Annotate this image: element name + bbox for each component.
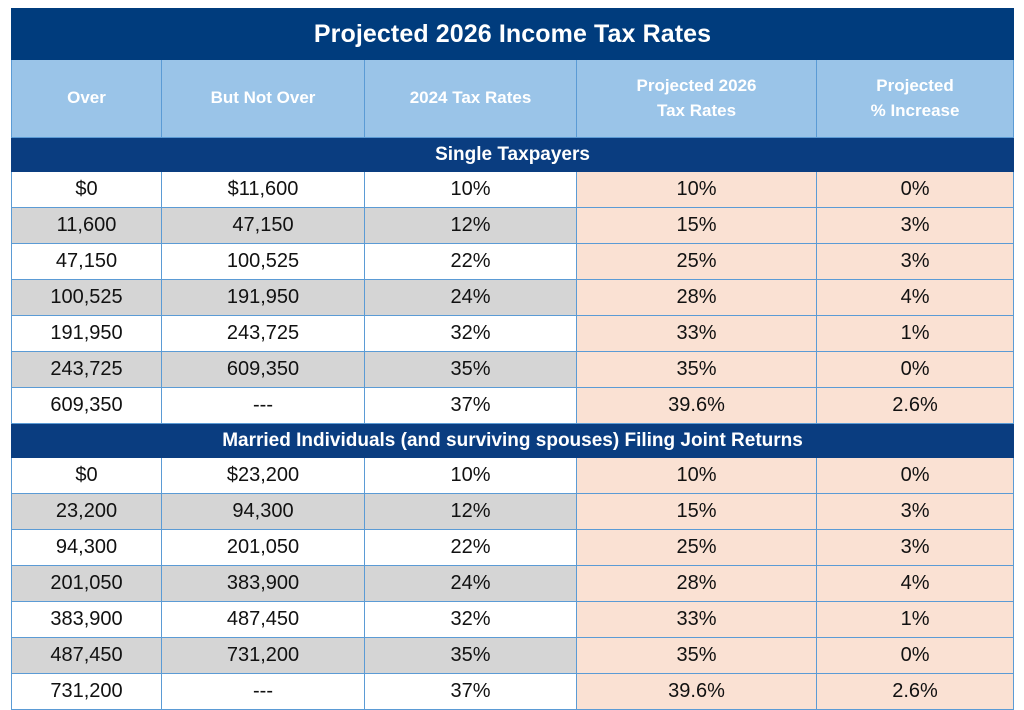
column-header-line: But Not Over (166, 86, 360, 111)
table-row: $0$11,60010%10%0% (12, 172, 1014, 208)
cell-rate-2024: 10% (365, 172, 577, 208)
cell-over: $0 (12, 172, 162, 208)
column-header-line: Projected 2026 (581, 74, 812, 99)
column-header-line: 2024 Tax Rates (369, 86, 572, 111)
cell-rate-2026: 25% (577, 530, 817, 566)
column-header-but-not-over[interactable]: But Not Over (162, 60, 365, 138)
cell-rate-2026: 39.6% (577, 674, 817, 710)
cell-but-not-over: 243,725 (162, 316, 365, 352)
cell-pct-increase: 2.6% (817, 388, 1014, 424)
cell-pct-increase: 3% (817, 494, 1014, 530)
cell-but-not-over: 487,450 (162, 602, 365, 638)
cell-but-not-over: 731,200 (162, 638, 365, 674)
cell-pct-increase: 0% (817, 638, 1014, 674)
cell-pct-increase: 1% (817, 602, 1014, 638)
table-row: 201,050383,90024%28%4% (12, 566, 1014, 602)
cell-over: 191,950 (12, 316, 162, 352)
table-row: 191,950243,72532%33%1% (12, 316, 1014, 352)
column-header-projected-increase[interactable]: Projected% Increase (817, 60, 1014, 138)
table-row: 11,60047,15012%15%3% (12, 208, 1014, 244)
cell-but-not-over: 609,350 (162, 352, 365, 388)
cell-rate-2026: 25% (577, 244, 817, 280)
table-row: 47,150100,52522%25%3% (12, 244, 1014, 280)
cell-pct-increase: 3% (817, 244, 1014, 280)
cell-over: 94,300 (12, 530, 162, 566)
cell-but-not-over: 94,300 (162, 494, 365, 530)
cell-pct-increase: 3% (817, 208, 1014, 244)
cell-pct-increase: 4% (817, 280, 1014, 316)
cell-rate-2024: 22% (365, 530, 577, 566)
cell-rate-2026: 33% (577, 316, 817, 352)
section-header-row: Single Taxpayers (12, 138, 1014, 172)
cell-over: 731,200 (12, 674, 162, 710)
table-row: $0$23,20010%10%0% (12, 458, 1014, 494)
column-header-2024-tax-rates[interactable]: 2024 Tax Rates (365, 60, 577, 138)
cell-over: 487,450 (12, 638, 162, 674)
cell-but-not-over: --- (162, 388, 365, 424)
cell-over: 383,900 (12, 602, 162, 638)
cell-but-not-over: 201,050 (162, 530, 365, 566)
page-title: Projected 2026 Income Tax Rates (12, 9, 1014, 60)
cell-but-not-over: --- (162, 674, 365, 710)
column-header-over[interactable]: Over (12, 60, 162, 138)
cell-rate-2024: 35% (365, 352, 577, 388)
column-header-row: OverBut Not Over2024 Tax RatesProjected … (12, 60, 1014, 138)
cell-rate-2026: 15% (577, 208, 817, 244)
cell-rate-2024: 37% (365, 674, 577, 710)
cell-rate-2024: 24% (365, 280, 577, 316)
projected-tax-rates-table: Projected 2026 Income Tax RatesOverBut N… (11, 8, 1014, 710)
section-header-row: Married Individuals (and surviving spous… (12, 424, 1014, 458)
cell-rate-2024: 32% (365, 316, 577, 352)
cell-rate-2026: 33% (577, 602, 817, 638)
cell-over: 609,350 (12, 388, 162, 424)
cell-pct-increase: 0% (817, 352, 1014, 388)
cell-over: 11,600 (12, 208, 162, 244)
cell-pct-increase: 2.6% (817, 674, 1014, 710)
table-row: 243,725609,35035%35%0% (12, 352, 1014, 388)
cell-but-not-over: 383,900 (162, 566, 365, 602)
table-row: 383,900487,45032%33%1% (12, 602, 1014, 638)
cell-rate-2024: 22% (365, 244, 577, 280)
cell-pct-increase: 4% (817, 566, 1014, 602)
cell-rate-2024: 12% (365, 208, 577, 244)
section-heading: Single Taxpayers (12, 138, 1014, 172)
tax-table-container: Projected 2026 Income Tax RatesOverBut N… (11, 8, 1013, 695)
column-header-line: Over (16, 86, 157, 111)
section-heading: Married Individuals (and surviving spous… (12, 424, 1014, 458)
cell-rate-2024: 12% (365, 494, 577, 530)
cell-rate-2026: 35% (577, 352, 817, 388)
column-header-line: Tax Rates (581, 99, 812, 124)
cell-rate-2024: 35% (365, 638, 577, 674)
cell-but-not-over: 191,950 (162, 280, 365, 316)
cell-over: 243,725 (12, 352, 162, 388)
cell-rate-2024: 37% (365, 388, 577, 424)
cell-rate-2026: 15% (577, 494, 817, 530)
table-row: 609,350---37%39.6%2.6% (12, 388, 1014, 424)
cell-over: 23,200 (12, 494, 162, 530)
cell-over: 100,525 (12, 280, 162, 316)
cell-but-not-over: $23,200 (162, 458, 365, 494)
cell-over: $0 (12, 458, 162, 494)
cell-pct-increase: 0% (817, 458, 1014, 494)
cell-rate-2024: 32% (365, 602, 577, 638)
column-header-projected-2026-tax-rates[interactable]: Projected 2026Tax Rates (577, 60, 817, 138)
cell-pct-increase: 1% (817, 316, 1014, 352)
cell-but-not-over: 47,150 (162, 208, 365, 244)
table-row: 94,300201,05022%25%3% (12, 530, 1014, 566)
table-row: 487,450731,20035%35%0% (12, 638, 1014, 674)
cell-over: 201,050 (12, 566, 162, 602)
cell-rate-2026: 10% (577, 172, 817, 208)
cell-but-not-over: 100,525 (162, 244, 365, 280)
cell-over: 47,150 (12, 244, 162, 280)
column-header-line: Projected (821, 74, 1009, 99)
cell-rate-2026: 28% (577, 280, 817, 316)
table-row: 731,200---37%39.6%2.6% (12, 674, 1014, 710)
cell-rate-2026: 10% (577, 458, 817, 494)
cell-rate-2026: 35% (577, 638, 817, 674)
cell-rate-2026: 28% (577, 566, 817, 602)
table-row: 100,525191,95024%28%4% (12, 280, 1014, 316)
column-header-line: % Increase (821, 99, 1009, 124)
cell-rate-2024: 10% (365, 458, 577, 494)
cell-pct-increase: 0% (817, 172, 1014, 208)
cell-pct-increase: 3% (817, 530, 1014, 566)
cell-rate-2026: 39.6% (577, 388, 817, 424)
table-title-row: Projected 2026 Income Tax Rates (12, 9, 1014, 60)
cell-but-not-over: $11,600 (162, 172, 365, 208)
table-row: 23,20094,30012%15%3% (12, 494, 1014, 530)
cell-rate-2024: 24% (365, 566, 577, 602)
